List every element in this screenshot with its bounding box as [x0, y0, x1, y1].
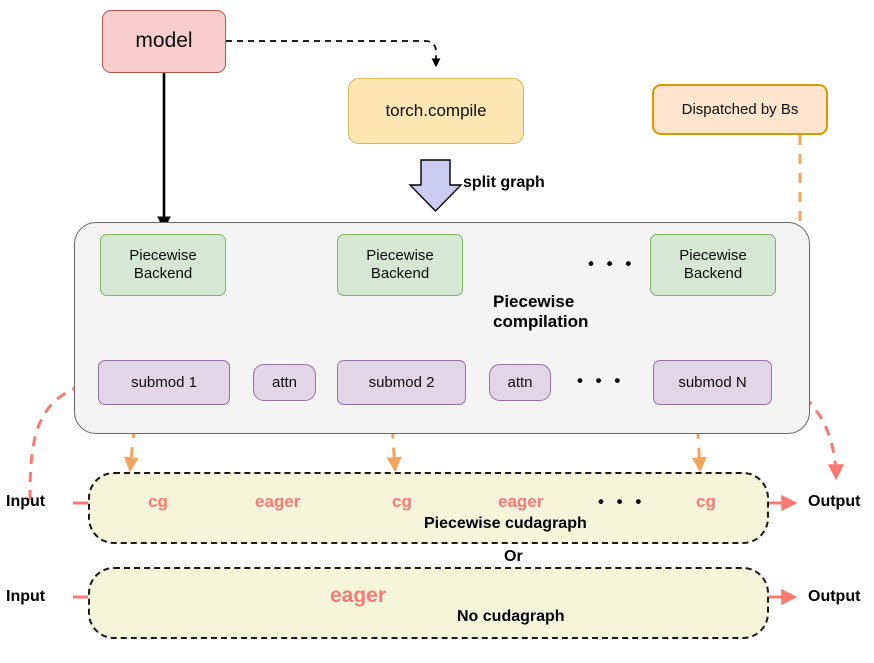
node-piecewise-backend-2-label: Piecewise Backend: [366, 247, 434, 282]
nocudagraph-input-label: Input: [6, 588, 45, 606]
nocudagraph-step-eager: eager: [330, 584, 386, 608]
edge-model-to-torchcompile: [226, 41, 436, 66]
no-cudagraph-box-label: No cudagraph: [457, 608, 565, 626]
piecewise-cudagraph-box-label: Piecewise cudagraph: [424, 515, 587, 533]
piecewise-step-cg-1: cg: [148, 492, 168, 512]
or-label: Or: [504, 548, 523, 566]
node-model-label: model: [135, 29, 192, 54]
split-graph-label: split graph: [463, 174, 545, 192]
node-piecewise-backend-n[interactable]: Piecewise Backend: [650, 234, 776, 296]
piecewise-step-cg-2: cg: [392, 492, 412, 512]
node-submod-n-label: submod N: [678, 374, 746, 392]
ellipsis-backends: • • •: [588, 254, 635, 274]
node-dispatched-by-bs-label: Dispatched by Bs: [682, 101, 799, 119]
node-submod-2[interactable]: submod 2: [337, 360, 466, 405]
node-piecewise-backend-1-label: Piecewise Backend: [129, 247, 197, 282]
node-submod-n[interactable]: submod N: [653, 360, 772, 405]
node-submod-2-label: submod 2: [369, 374, 435, 392]
node-submod-1[interactable]: submod 1: [98, 360, 230, 405]
piecewise-step-eager-1: eager: [255, 492, 300, 512]
split-graph-arrow: [410, 160, 461, 211]
piecewise-step-eager-2: eager: [498, 492, 543, 512]
ellipsis-piecewise-steps: • • •: [598, 492, 645, 512]
node-piecewise-backend-2[interactable]: Piecewise Backend: [337, 234, 463, 296]
node-dispatched-by-bs[interactable]: Dispatched by Bs: [652, 84, 828, 135]
nocudagraph-output-label: Output: [808, 588, 860, 606]
diagram-canvas: model torch.compile Dispatched by Bs Pie…: [0, 0, 874, 663]
piecewise-cudagraph-container: [88, 472, 769, 544]
piecewise-step-cg-3: cg: [696, 492, 716, 512]
node-piecewise-backend-n-label: Piecewise Backend: [679, 247, 747, 282]
ellipsis-submods: • • •: [577, 371, 624, 391]
piecewise-output-label: Output: [808, 493, 860, 511]
node-attn-2-label: attn: [507, 374, 532, 392]
no-cudagraph-container: [88, 567, 769, 639]
node-attn-1[interactable]: attn: [253, 364, 316, 401]
piecewise-compilation-label: Piecewise compilation: [493, 292, 588, 333]
node-submod-1-label: submod 1: [131, 374, 197, 392]
node-torch-compile[interactable]: torch.compile: [348, 78, 524, 144]
node-torch-compile-label: torch.compile: [385, 101, 486, 121]
node-attn-1-label: attn: [272, 374, 297, 392]
node-piecewise-backend-1[interactable]: Piecewise Backend: [100, 234, 226, 296]
node-model[interactable]: model: [102, 10, 226, 73]
piecewise-input-label: Input: [6, 493, 45, 511]
node-attn-2[interactable]: attn: [489, 364, 551, 401]
